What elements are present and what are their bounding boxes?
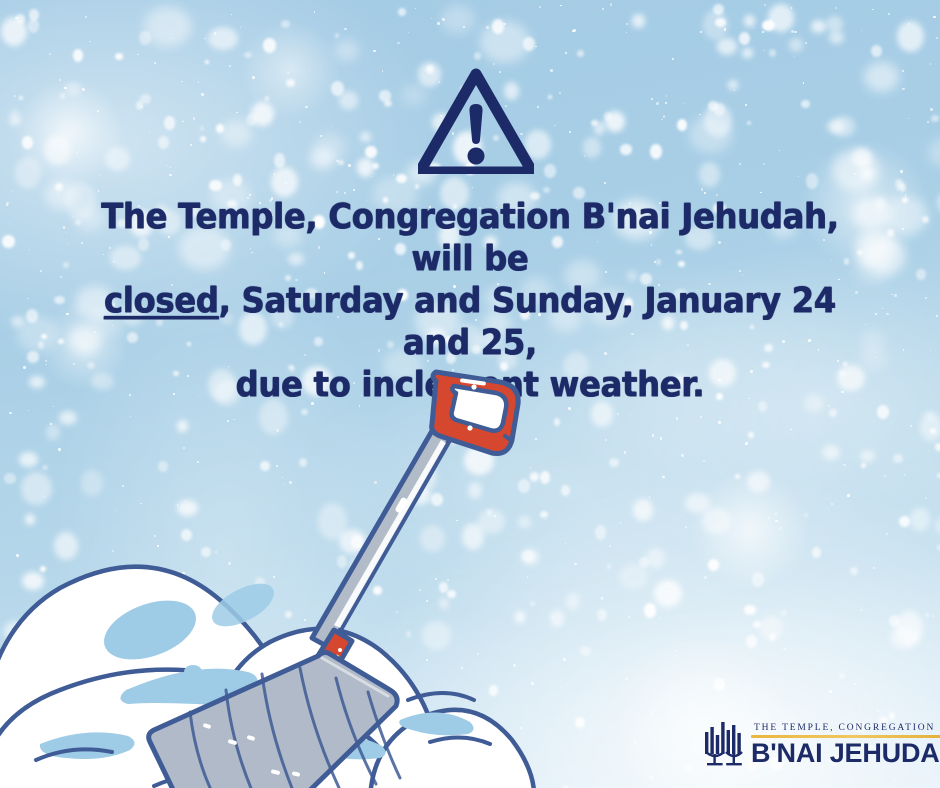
announcement-headline: The Temple, Congregation B'nai Jehudah, …	[74, 196, 865, 406]
headline-line-2-rest: , Saturday and Sunday, January 24 and 25…	[219, 281, 836, 363]
warning-triangle-icon	[418, 68, 534, 174]
headline-emphasis-closed: closed	[104, 281, 219, 321]
headline-line-3: due to inclement weather.	[74, 364, 865, 406]
menorah-icon	[703, 718, 749, 768]
organization-logo[interactable]: THE TEMPLE, CONGREGATION B'NAI JEHUDAH	[703, 712, 925, 768]
headline-line-2: closed, Saturday and Sunday, January 24 …	[74, 280, 865, 364]
headline-line-1: The Temple, Congregation B'nai Jehudah, …	[74, 196, 865, 280]
logo-text-block: THE TEMPLE, CONGREGATION B'NAI JEHUDAH	[751, 722, 940, 768]
logo-tagline: THE TEMPLE, CONGREGATION	[751, 722, 940, 734]
winter-closure-poster: The Temple, Congregation B'nai Jehudah, …	[0, 0, 940, 788]
logo-wordmark: B'NAI JEHUDAH	[751, 739, 940, 767]
